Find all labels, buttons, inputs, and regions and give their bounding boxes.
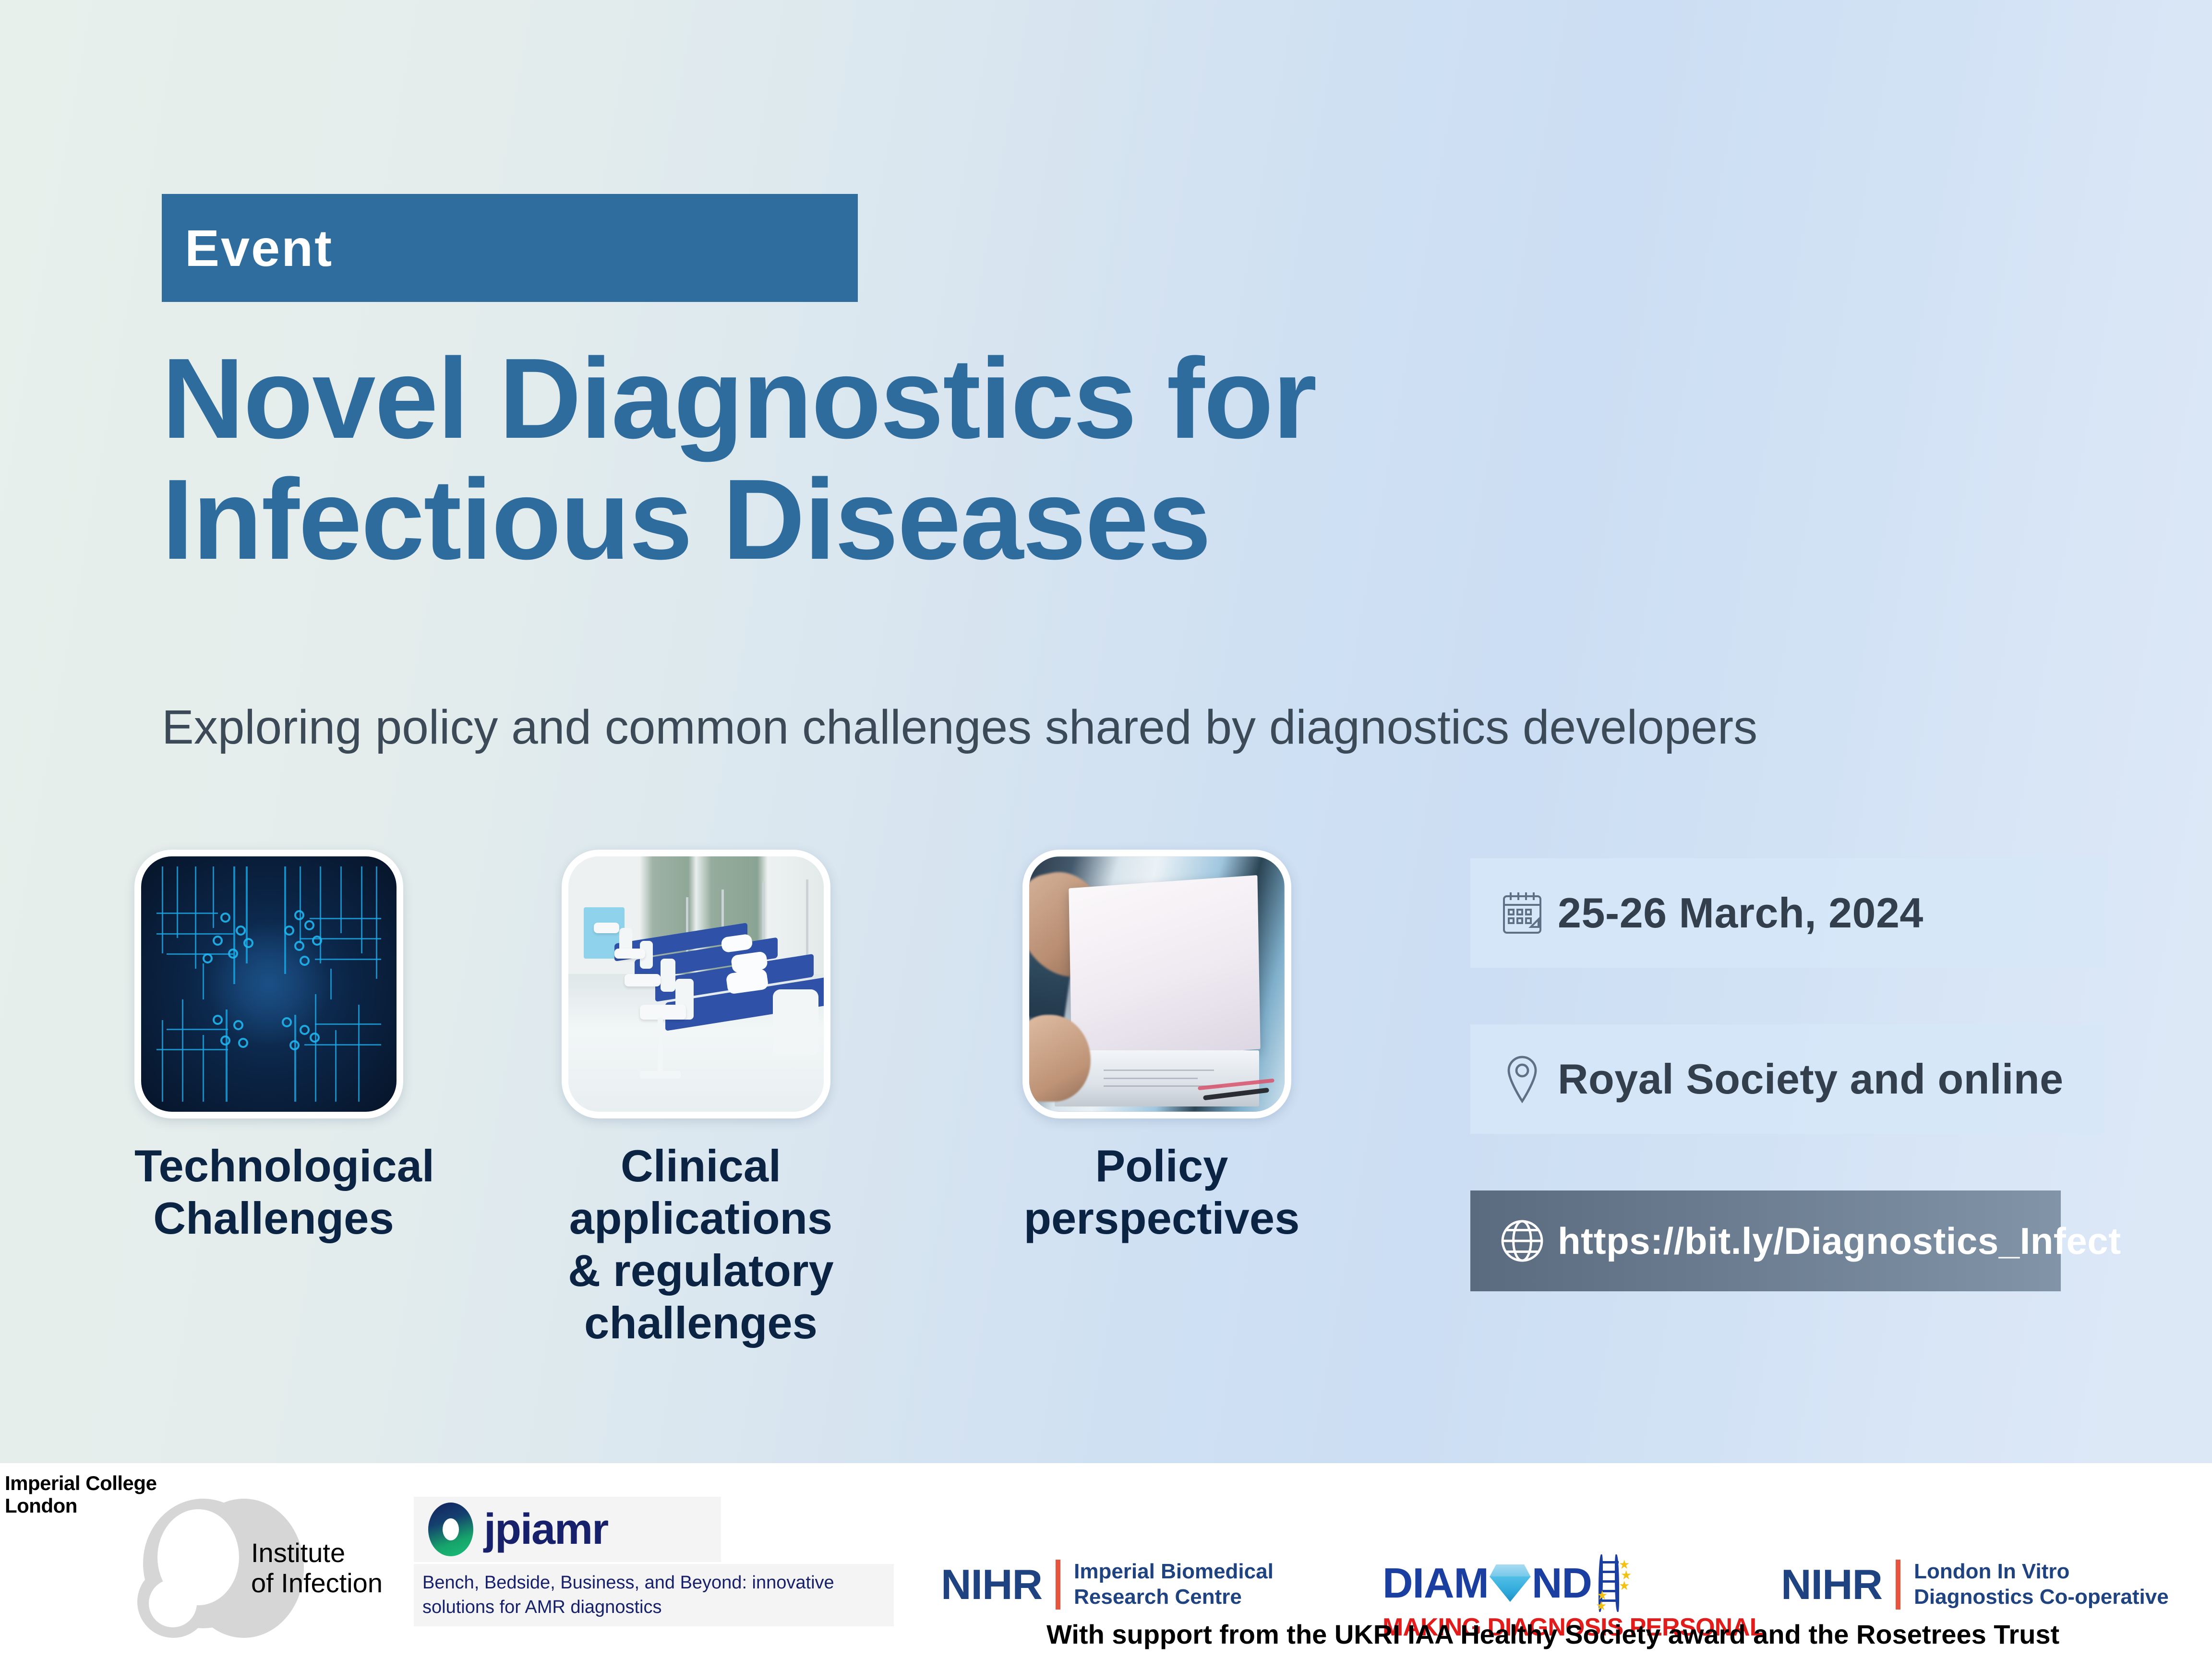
dna-helix-icon: ★ ★ ★ ★ ★ bbox=[1594, 1554, 1627, 1612]
circuit-board-image bbox=[141, 856, 397, 1112]
event-date-text: 25-26 March, 2024 bbox=[1558, 889, 1923, 938]
nihr-divider bbox=[1056, 1560, 1060, 1610]
topic-thumbnail bbox=[562, 850, 830, 1118]
event-url-row[interactable]: https://bit.ly/Diagnostics_Infect bbox=[1470, 1190, 2061, 1291]
nihr-divider bbox=[1896, 1560, 1900, 1610]
institute-line-1: Institute bbox=[251, 1538, 383, 1568]
topic-cards: Technological Challenges bbox=[110, 850, 1426, 1426]
nihr-ivd-name: London In Vitro Diagnostics Co-operative bbox=[1914, 1559, 2169, 1610]
nihr-acronym: NIHR bbox=[941, 1560, 1042, 1609]
event-location-row: Royal Society and online bbox=[1470, 1024, 2104, 1134]
institute-line-2: of Infection bbox=[251, 1568, 383, 1599]
imperial-college-logo: Imperial College London Institute of Inf… bbox=[5, 1472, 156, 1517]
diamond-gem-icon bbox=[1490, 1564, 1531, 1602]
nihr-brc-name: Imperial Biomedical Research Centre bbox=[1074, 1559, 1274, 1610]
event-poster: Event Novel Diagnostics for Infectious D… bbox=[0, 0, 2212, 1659]
jpiamr-ring-icon bbox=[428, 1503, 473, 1556]
topic-caption: Clinical applications & regulatory chall… bbox=[562, 1140, 840, 1349]
title-line-2: Infectious Diseases bbox=[162, 459, 1746, 580]
documents-review-image bbox=[1029, 856, 1285, 1112]
topic-thumbnail bbox=[134, 850, 403, 1118]
jpiamr-tagline-line-2: solutions for AMR diagnostics bbox=[422, 1595, 885, 1620]
title-line-1: Novel Diagnostics for bbox=[162, 335, 1316, 462]
topic-thumbnail bbox=[1022, 850, 1291, 1118]
support-credit-text: With support from the UKRI IAA Healthy S… bbox=[1046, 1619, 2199, 1650]
imperial-line-1: Imperial College bbox=[5, 1472, 156, 1494]
nihr-london-ivd-logo: NIHR London In Vitro Diagnostics Co-oper… bbox=[1781, 1559, 2169, 1610]
hospital-ward-image bbox=[568, 856, 824, 1112]
topic-card: Policy perspectives bbox=[1022, 850, 1301, 1244]
event-location-text: Royal Society and online bbox=[1558, 1055, 2064, 1104]
paper-sheet bbox=[1069, 875, 1260, 1062]
topic-caption: Policy perspectives bbox=[1022, 1140, 1301, 1244]
institute-of-infection-logo: Institute of Infection bbox=[129, 1494, 397, 1638]
nihr-imperial-brc-logo: NIHR Imperial Biomedical Research Centre bbox=[941, 1559, 1274, 1610]
calendar-icon bbox=[1497, 890, 1547, 936]
nihr-acronym: NIHR bbox=[1781, 1560, 1882, 1609]
event-url-text[interactable]: https://bit.ly/Diagnostics_Infect bbox=[1558, 1219, 2121, 1263]
nihr-ivd-line-1: London In Vitro bbox=[1914, 1559, 2169, 1585]
jpiamr-tagline: Bench, Bedside, Business, and Beyond: in… bbox=[414, 1564, 894, 1626]
ioi-cutout-small bbox=[149, 1579, 197, 1627]
jpiamr-logo: jpiamr Bench, Bedside, Business, and Bey… bbox=[414, 1497, 913, 1626]
page-subtitle: Exploring policy and common challenges s… bbox=[162, 701, 1938, 754]
topic-caption: Technological Challenges bbox=[134, 1140, 413, 1244]
nihr-brc-line-2: Research Centre bbox=[1074, 1585, 1274, 1610]
nihr-ivd-line-2: Diagnostics Co-operative bbox=[1914, 1585, 2169, 1610]
diamonds-word-part-1: DIAM bbox=[1382, 1559, 1489, 1608]
globe-icon bbox=[1497, 1219, 1547, 1262]
location-pin-icon bbox=[1497, 1055, 1547, 1103]
nihr-brc-line-1: Imperial Biomedical bbox=[1074, 1559, 1274, 1585]
topic-card: Technological Challenges bbox=[134, 850, 413, 1244]
jpiamr-tagline-line-1: Bench, Bedside, Business, and Beyond: in… bbox=[422, 1571, 885, 1595]
jpiamr-wordmark: jpiamr bbox=[484, 1505, 608, 1554]
event-badge: Event bbox=[162, 194, 858, 302]
event-date-row: 25-26 March, 2024 bbox=[1470, 858, 2106, 968]
topic-card: Clinical applications & regulatory chall… bbox=[562, 850, 840, 1349]
event-badge-label: Event bbox=[185, 222, 333, 274]
diamonds-word-part-2: ND bbox=[1532, 1559, 1592, 1608]
page-title: Novel Diagnostics for Infectious Disease… bbox=[162, 338, 1746, 581]
event-details-panel: 25-26 March, 2024 Royal Society and onli… bbox=[1470, 858, 2109, 1291]
